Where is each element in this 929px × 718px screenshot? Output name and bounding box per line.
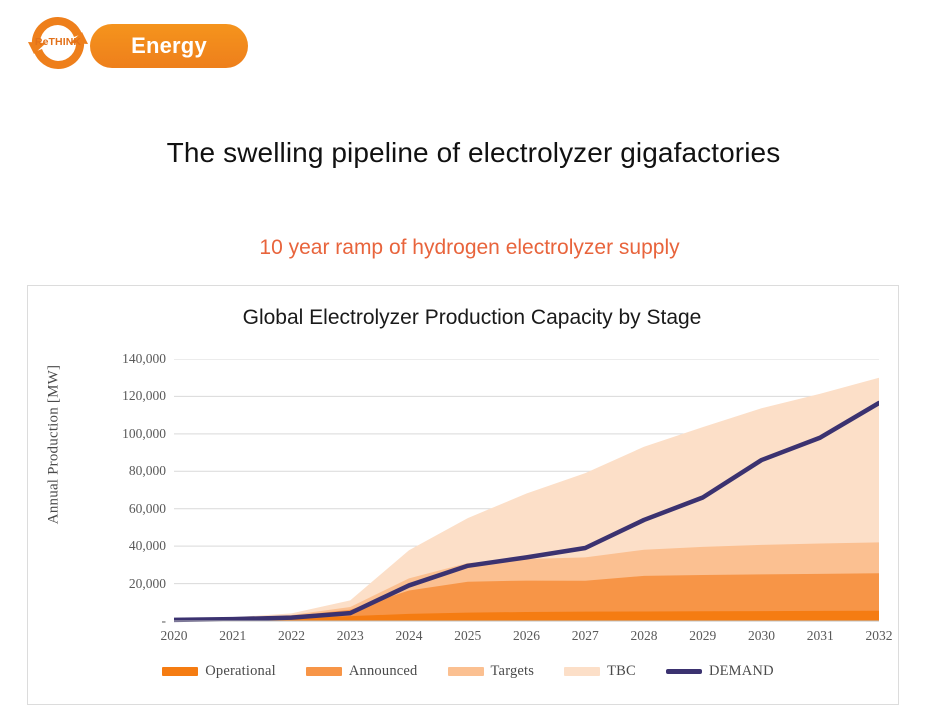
x-tick-label: 2020 [144, 628, 204, 644]
legend-item-tbc[interactable]: TBC [564, 663, 636, 680]
y-tick-label: 120,000 [76, 388, 166, 404]
y-tick-label: 60,000 [76, 501, 166, 517]
y-tick-label: - [76, 613, 166, 629]
y-tick-label: 80,000 [76, 463, 166, 479]
legend-item-targets[interactable]: Targets [448, 663, 535, 680]
chart-legend: OperationalAnnouncedTargetsTBCDEMAND [28, 663, 898, 680]
x-tick-label: 2027 [555, 628, 615, 644]
legend-swatch-icon [162, 667, 198, 676]
x-tick-label: 2025 [438, 628, 498, 644]
y-axis-ticks: 140,000120,000100,00080,00060,00040,0002… [74, 359, 166, 621]
legend-item-operational[interactable]: Operational [162, 663, 276, 680]
legend-label: TBC [607, 663, 636, 680]
legend-swatch-icon [306, 667, 342, 676]
brand-logo: ReTHINK Energy [8, 10, 248, 76]
x-tick-label: 2031 [790, 628, 850, 644]
page-subtitle: 10 year ramp of hydrogen electrolyzer su… [0, 236, 929, 260]
x-tick-label: 2028 [614, 628, 674, 644]
x-axis-ticks: 2020202120222023202420252026202720282029… [174, 628, 879, 650]
x-tick-label: 2024 [379, 628, 439, 644]
x-tick-label: 2026 [497, 628, 557, 644]
legend-swatch-icon [564, 667, 600, 676]
legend-swatch-icon [666, 669, 702, 674]
page-title: The swelling pipeline of electrolyzer gi… [0, 137, 929, 169]
chart-title: Global Electrolyzer Production Capacity … [28, 306, 898, 330]
y-tick-label: 40,000 [76, 538, 166, 554]
y-tick-label: 140,000 [76, 351, 166, 367]
y-axis-title: Annual Production [MW] [46, 335, 63, 555]
x-tick-label: 2030 [732, 628, 792, 644]
y-tick-label: 100,000 [76, 426, 166, 442]
x-tick-label: 2032 [849, 628, 909, 644]
x-tick-label: 2021 [203, 628, 263, 644]
legend-label: DEMAND [709, 663, 774, 680]
x-tick-label: 2022 [262, 628, 322, 644]
x-tick-label: 2023 [320, 628, 380, 644]
logo-wordmark: ReTHINK [26, 36, 90, 48]
legend-item-demand[interactable]: DEMAND [666, 663, 774, 680]
chart-card: Global Electrolyzer Production Capacity … [27, 285, 899, 705]
legend-label: Targets [491, 663, 535, 680]
legend-label: Operational [205, 663, 276, 680]
x-tick-label: 2029 [673, 628, 733, 644]
legend-item-announced[interactable]: Announced [306, 663, 418, 680]
logo-pill-label: Energy [90, 33, 248, 59]
plot-area [174, 359, 879, 621]
legend-swatch-icon [448, 667, 484, 676]
y-tick-label: 20,000 [76, 576, 166, 592]
legend-label: Announced [349, 663, 418, 680]
logo-pill: Energy [90, 24, 248, 68]
